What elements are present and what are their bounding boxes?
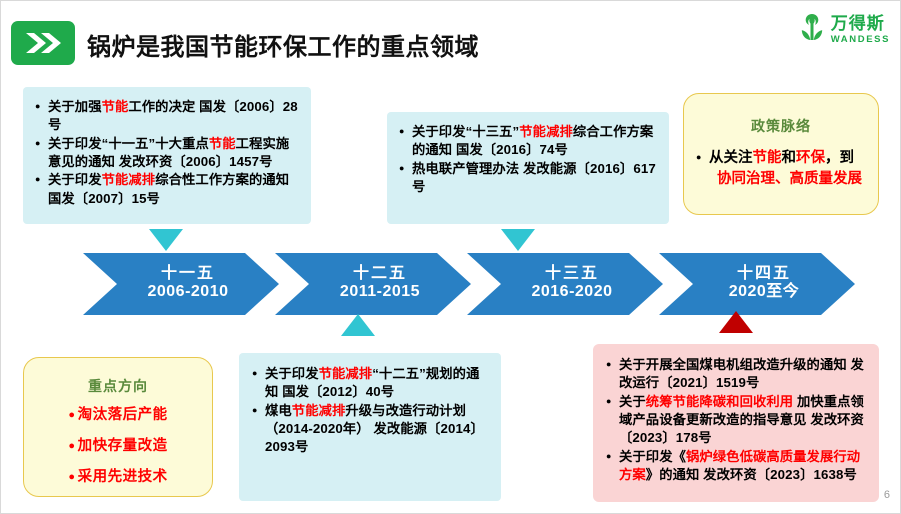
policy-context-line2: 协同治理、高质量发展 [709,169,870,190]
bullet-dot-icon: ● [68,440,75,452]
policy-list-item: 煤电节能减排升级与改造行动计划（2014-2020年） 发改能源〔2014〕20… [252,402,491,457]
text-run: ，到 [825,150,854,166]
policy-list: 关于印发“十三五”节能减排综合工作方案的通知 国发〔2016〕74号热电联产管理… [399,123,659,196]
text-run: 从关注 [709,150,753,166]
logo-name-cn: 万得斯 [831,15,890,32]
connector-triangle-down-icon [149,229,183,251]
policy-list-item: 关于加强节能工作的决定 国发〔2006〕28号 [35,98,301,135]
logo-text: 万得斯 WANDESS [831,15,890,45]
policy-list-item: 关于印发“十一五”十大重点节能工程实施意见的通知 发改环资〔2006〕1457号 [35,135,301,172]
policy-list-item: 热电联产管理办法 发改能源〔2016〕617号 [399,160,659,197]
timeline-step-years: 2016-2020 [531,282,612,302]
text-run: 关于印发 [265,366,319,381]
plant-leaf-icon [799,13,825,46]
policy-box-14th-five-year: 关于开展全国煤电机组改造升级的通知 发改运行〔2021〕1519号关于统筹节能降… [593,344,879,502]
page-number: 6 [884,489,890,501]
policy-list-item: 关于统筹节能降碳和回收利用 加快重点领域产品设备更新改造的指导意见 发改环资〔2… [606,393,869,448]
text-run: 关于加强 [48,99,102,114]
policy-context-title: 政策脉络 [684,116,878,136]
timeline-step-name: 十三五 [545,266,599,283]
text-run: 关于印发《 [619,449,686,464]
logo-name-en: WANDESS [831,35,890,45]
focus-direction-item: ●加快存量改造 [24,439,212,455]
policy-context-card: 政策脉络 从关注节能和环保，到 协同治理、高质量发展 [683,93,879,215]
text-run: 节能减排 [102,172,156,187]
timeline-step-13th[interactable]: 十三五 2016-2020 [467,253,663,315]
text-run: 节能 [753,150,782,166]
text-run: 关于印发“十三五” [412,124,519,139]
policy-list: 关于加强节能工作的决定 国发〔2006〕28号关于印发“十一五”十大重点节能工程… [35,98,301,208]
policy-list-item: 关于印发《锅炉绿色低碳高质量发展行动方案》的通知 发改环资〔2023〕1638号 [606,448,869,485]
bullet-dot-icon: ● [68,409,75,421]
timeline-step-years: 2011-2015 [340,282,420,302]
double-chevron-right-icon [11,21,75,65]
policy-list: 关于开展全国煤电机组改造升级的通知 发改运行〔2021〕1519号关于统筹节能降… [606,356,869,484]
timeline-step-12th[interactable]: 十二五 2011-2015 [275,253,471,315]
slide-canvas: 锅炉是我国节能环保工作的重点领域 万得斯 WANDESS 十一五 2006-20… [0,0,901,514]
policy-box-12th-five-year: 关于印发节能减排“十二五”规划的通知 国发〔2012〕40号煤电节能减排升级与改… [239,353,501,501]
brand-logo: 万得斯 WANDESS [799,13,890,46]
text-run: 和 [782,150,797,166]
text-run: 统筹节能降碳和回收利用 [646,394,793,409]
focus-directions-list: ●淘汰落后产能●加快存量改造●采用先进技术 [24,408,212,486]
focus-directions-card: 重点方向 ●淘汰落后产能●加快存量改造●采用先进技术 [23,357,213,497]
timeline-step-11th[interactable]: 十一五 2006-2010 [83,253,279,315]
slide-header: 锅炉是我国节能环保工作的重点领域 万得斯 WANDESS [1,1,901,73]
policy-context-line1: 从关注节能和环保，到 [709,150,854,166]
text-run: 节能 [102,99,129,114]
text-run: 节能减排 [292,403,346,418]
text-run: 》的通知 发改环资〔2023〕1638号 [646,467,857,482]
timeline-step-name: 十二五 [353,266,407,283]
focus-direction-item: ●采用先进技术 [24,470,212,486]
text-run: 关于印发“十一五”十大重点 [48,136,209,151]
connector-triangle-down-icon [501,229,535,251]
timeline-step-years: 2006-2010 [147,282,228,302]
bullet-dot-icon: ● [68,471,75,483]
text-run: 热电联产管理办法 发改能源〔2016〕617号 [412,161,656,194]
focus-directions-title: 重点方向 [24,376,212,396]
policy-list-item: 关于印发节能减排“十二五”规划的通知 国发〔2012〕40号 [252,365,491,402]
timeline-step-years: 2020至今 [729,282,800,302]
text-run: 节能 [209,136,236,151]
connector-triangle-up-icon [341,314,375,336]
policy-list-item: 关于印发节能减排综合性工作方案的通知 国发〔2007〕15号 [35,171,301,208]
connector-triangle-up-red-icon [719,311,753,333]
text-run: 节能减排 [519,124,573,139]
text-run: 关于印发 [48,172,102,187]
policy-box-13th-five-year: 关于印发“十三五”节能减排综合工作方案的通知 国发〔2016〕74号热电联产管理… [387,112,669,224]
timeline-step-14th[interactable]: 十四五 2020至今 [659,253,855,315]
policy-box-11th-five-year: 关于加强节能工作的决定 国发〔2006〕28号关于印发“十一五”十大重点节能工程… [23,87,311,224]
text-run: 节能减排 [319,366,373,381]
policy-list-item: 关于印发“十三五”节能减排综合工作方案的通知 国发〔2016〕74号 [399,123,659,160]
page-title: 锅炉是我国节能环保工作的重点领域 [87,27,479,62]
policy-context-statement: 从关注节能和环保，到 协同治理、高质量发展 [696,148,870,190]
text-run: 环保 [796,150,825,166]
policy-list: 关于印发节能减排“十二五”规划的通知 国发〔2012〕40号煤电节能减排升级与改… [252,365,491,457]
text-run: 煤电 [265,403,292,418]
timeline-step-name: 十四五 [737,266,791,283]
text-run: 关于 [619,394,646,409]
focus-direction-item: ●淘汰落后产能 [24,408,212,424]
policy-list-item: 关于开展全国煤电机组改造升级的通知 发改运行〔2021〕1519号 [606,356,869,393]
text-run: 关于开展全国煤电机组改造升级的通知 发改运行〔2021〕1519号 [619,357,864,390]
timeline-step-name: 十一五 [161,266,215,283]
